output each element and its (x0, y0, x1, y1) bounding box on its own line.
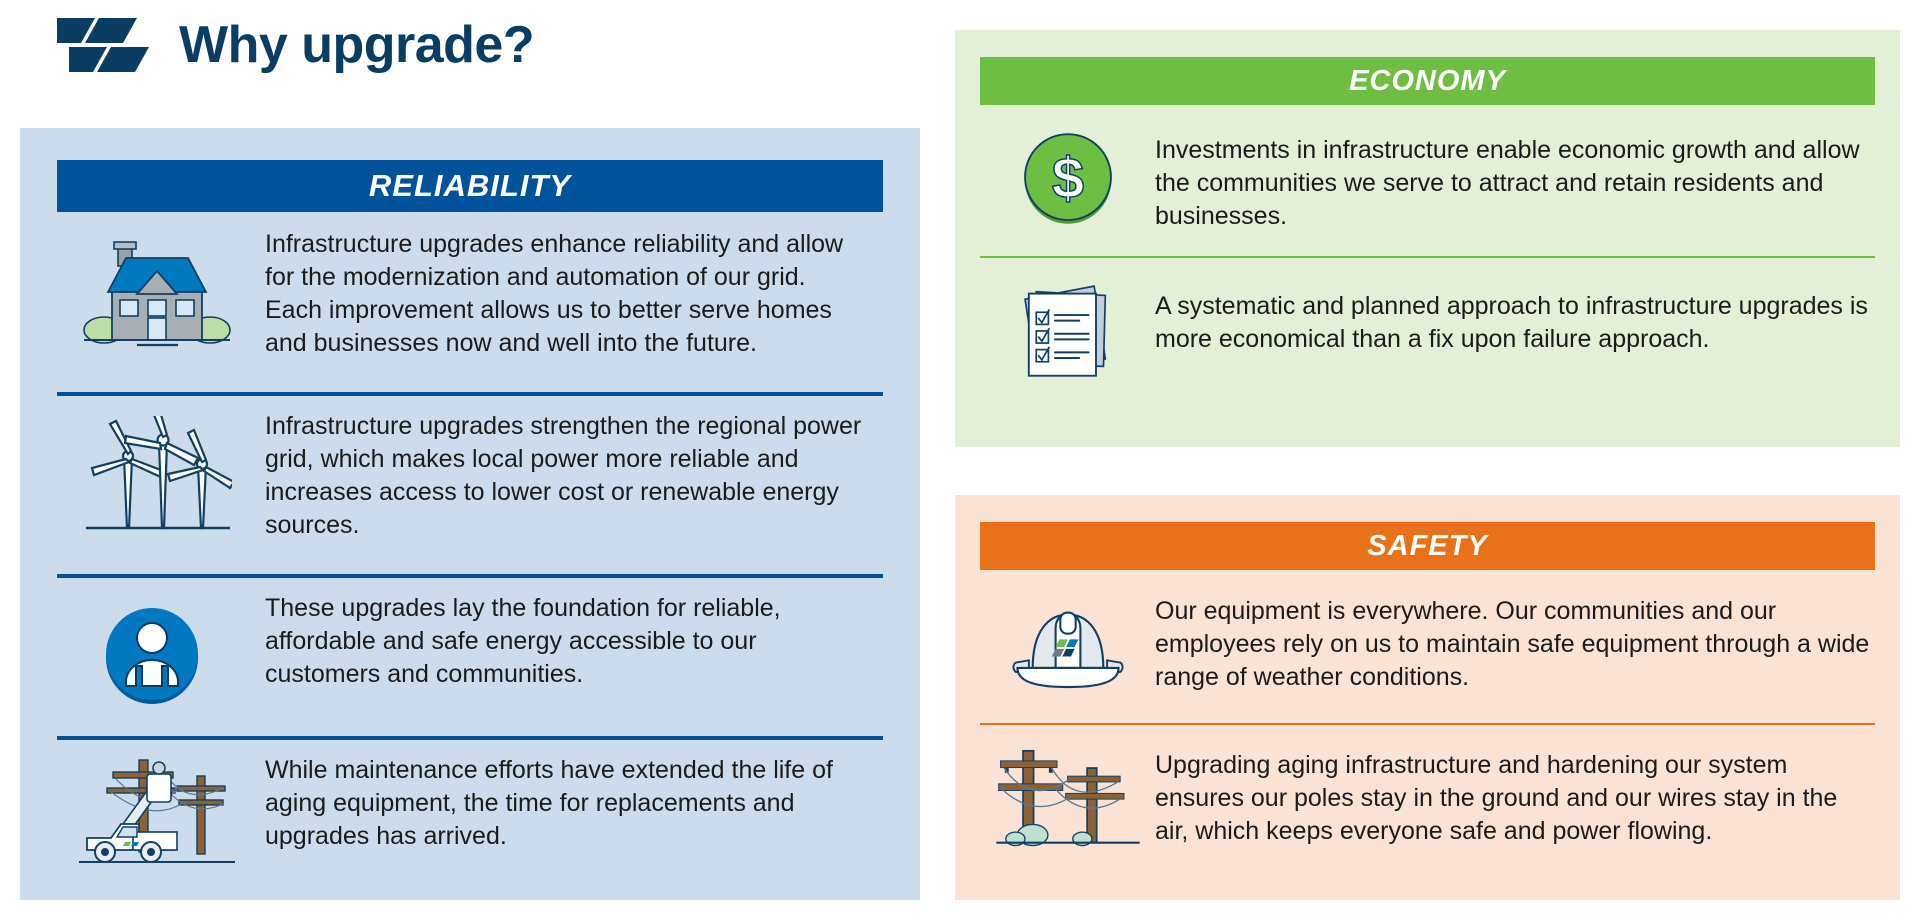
reliability-heading: RELIABILITY (57, 160, 883, 212)
page-title: Why upgrade? (179, 19, 534, 71)
double-chevron-logo-icon (55, 14, 151, 76)
safety-item-1-text: Our equipment is everywhere. Our communi… (1155, 585, 1870, 694)
wind-turbines-icon (57, 410, 257, 541)
economy-item-1-text: Investments in infrastructure enable eco… (1155, 120, 1870, 233)
reliability-item-list: Infrastructure upgrades enhance reliabil… (57, 228, 883, 878)
economy-item-2-text: A systematic and planned approach to inf… (1155, 276, 1870, 356)
page-header: Why upgrade? (55, 14, 534, 76)
safety-divider-1 (980, 723, 1875, 725)
reliability-item-1-text: Infrastructure upgrades enhance reliabil… (257, 228, 867, 360)
reliability-divider-1 (57, 392, 883, 396)
svg-text:$: $ (1051, 147, 1083, 211)
panel-economy: ECONOMY $ Investments in infrastructure … (955, 30, 1900, 447)
utility-poles-icon (980, 743, 1155, 857)
economy-heading: ECONOMY (980, 57, 1875, 105)
safety-heading: SAFETY (980, 522, 1875, 570)
safety-item-2-text: Upgrading aging infrastructure and harde… (1155, 743, 1870, 848)
reliability-item-4-text: While maintenance efforts have extended … (257, 754, 867, 853)
economy-item-2: A systematic and planned approach to inf… (980, 276, 1875, 396)
infographic-page: Why upgrade? RELIABILITY (0, 0, 1920, 920)
reliability-item-2: Infrastructure upgrades strengthen the r… (57, 410, 883, 560)
safety-item-list: Our equipment is everywhere. Our communi… (980, 585, 1875, 863)
hard-hat-icon (980, 585, 1155, 695)
reliability-item-4: While maintenance efforts have extended … (57, 754, 883, 878)
safety-item-2: Upgrading aging infrastructure and harde… (980, 743, 1875, 863)
dollar-circle-icon: $ (980, 120, 1155, 230)
economy-divider-1 (980, 256, 1875, 258)
reliability-item-3-text: These upgrades lay the foundation for re… (257, 592, 867, 691)
economy-item-1: $ Investments in infrastructure enable e… (980, 120, 1875, 252)
reliability-divider-2 (57, 574, 883, 578)
reliability-item-2-text: Infrastructure upgrades strengthen the r… (257, 410, 867, 542)
panel-safety: SAFETY (955, 495, 1900, 900)
economy-item-list: $ Investments in infrastructure enable e… (980, 120, 1875, 396)
person-circle-icon (57, 592, 257, 716)
reliability-item-1: Infrastructure upgrades enhance reliabil… (57, 228, 883, 378)
reliability-divider-3 (57, 736, 883, 740)
house-icon (57, 228, 257, 348)
checklist-document-icon (980, 276, 1155, 382)
bucket-truck-icon (57, 754, 257, 878)
safety-item-1: Our equipment is everywhere. Our communi… (980, 585, 1875, 713)
panel-reliability: RELIABILITY (20, 128, 920, 900)
reliability-item-3: These upgrades lay the foundation for re… (57, 592, 883, 722)
